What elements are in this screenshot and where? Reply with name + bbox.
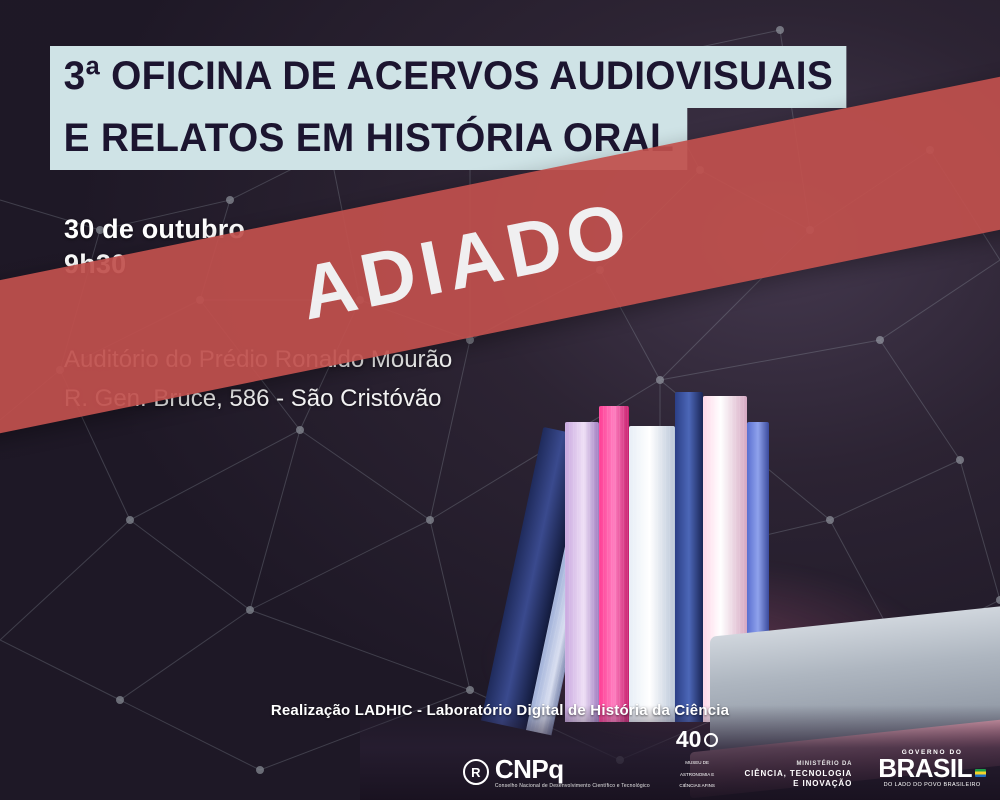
cnpq-mark-icon: R (463, 759, 489, 785)
cnpq-logo: R CNPq Conselho Nacional de Desenvolvime… (463, 756, 650, 789)
mast-number: 40 (676, 728, 702, 751)
sponsor-logos: R CNPq Conselho Nacional de Desenvolvime… (463, 728, 986, 789)
organizer-credit: Realização LADHIC - Laboratório Digital … (0, 702, 1000, 719)
ministry-top-label: MINISTÉRIO DA (744, 761, 852, 769)
brazil-flag-icon (975, 769, 986, 777)
poster-canvas: 3ª OFICINA DE ACERVOS AUDIOVISUAIS E REL… (0, 0, 1000, 800)
mast-line-2: ASTRONOMIA E (680, 772, 714, 778)
ministry-line-1: CIÊNCIA, TECNOLOGIA (744, 769, 852, 779)
mast-line-1: MUSEU DE (685, 760, 709, 766)
cnpq-subtitle: Conselho Nacional de Desenvolvimento Cie… (495, 784, 650, 789)
cnpq-text: CNPq Conselho Nacional de Desenvolviment… (495, 756, 650, 789)
mast-line-3: CIÊNCIAS AFINS (679, 783, 715, 789)
page-texture (599, 406, 629, 722)
book-3 (629, 426, 675, 722)
ministry-line-2: E INOVAÇÃO (744, 779, 852, 789)
postponed-banner-label: ADIADO (294, 191, 638, 332)
cnpq-name: CNPq (495, 756, 650, 782)
title-line-1: 3ª OFICINA DE ACERVOS AUDIOVISUAIS (50, 46, 847, 108)
government-brasil-row: BRASIL (878, 756, 986, 781)
government-subtitle: DO LADO DO POVO BRASILEIRO (878, 783, 986, 789)
book-4 (675, 392, 703, 722)
government-logo: GOVERNO DO BRASIL DO LADO DO POVO BRASIL… (878, 750, 986, 789)
book-2 (599, 406, 629, 722)
page-texture (565, 422, 599, 722)
page-texture (629, 426, 675, 722)
book-1 (565, 422, 599, 722)
mast-40-mark: 40 (676, 728, 719, 751)
government-brasil: BRASIL (878, 753, 972, 783)
mast-logo: 40 MUSEU DE ASTRONOMIA E CIÊNCIAS AFINS (676, 728, 719, 789)
ministry-logo: MINISTÉRIO DA CIÊNCIA, TECNOLOGIA E INOV… (744, 761, 852, 789)
mast-circle-icon (704, 733, 718, 747)
